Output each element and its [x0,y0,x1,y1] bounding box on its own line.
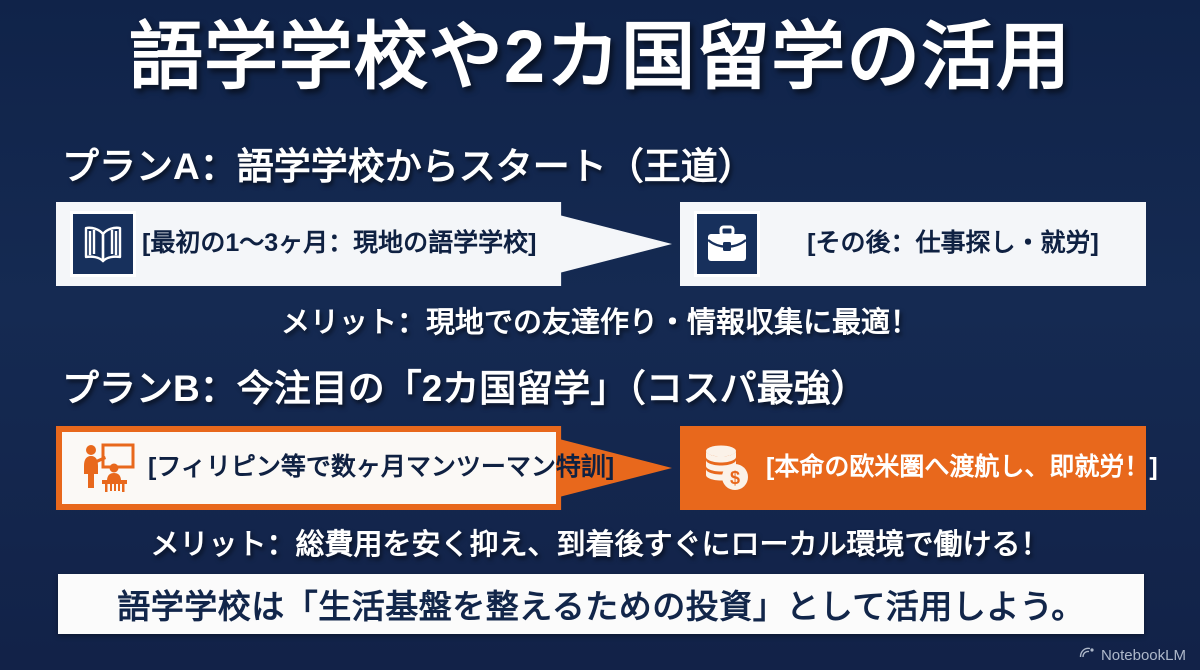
plan-b-flow-row: [フィリピン等で数ヶ月マンツーマン特訓] $ [本命の欧米圏へ渡航し、即就労！] [0,426,1200,510]
watermark-label: NotebookLM [1101,647,1186,664]
plan-a-heading: プランA：語学学校からスタート（王道） [62,136,755,190]
conclusion-text: 語学学校は「生活基盤を整えるための投資」として活用しよう。 [117,580,1085,628]
plan-a-step-2-label: [その後：仕事探し・就労] [760,230,1146,258]
plan-b-step-1-box: [フィリピン等で数ヶ月マンツーマン特訓] [56,426,672,510]
conclusion-banner: 語学学校は「生活基盤を整えるための投資」として活用しよう。 [58,574,1144,634]
plan-b-step-1-label: [フィリピン等で数ヶ月マンツーマン特訓] [142,454,654,482]
notebooklm-logo-icon [1079,646,1095,664]
plan-a-step-1-label: [最初の1〜3ヶ月：現地の語学学校] [136,230,632,258]
page-title: 語学学校や2カ国留学の活用 [0,18,1200,96]
plan-a-flow-row: [最初の1〜3ヶ月：現地の語学学校] [その後：仕事探し・就労] [0,202,1200,286]
teacher-classroom-icon [76,435,142,501]
plan-b-step-2-box: $ [本命の欧米圏へ渡航し、即就労！] [680,426,1146,510]
plan-a-step-1-inner: [最初の1〜3ヶ月：現地の語学学校] [56,202,562,286]
plan-b-step-2-label: [本命の欧米圏へ渡航し、即就労！] [760,454,1164,482]
watermark: NotebookLM [1079,646,1186,664]
plan-a-step-1-box: [最初の1〜3ヶ月：現地の語学学校] [56,202,672,286]
plan-a-step-2-box: [その後：仕事探し・就労] [680,202,1146,286]
svg-text:$: $ [730,468,740,488]
open-book-icon [70,211,136,277]
slide-canvas: 語学学校や2カ国留学の活用 プランA：語学学校からスタート（王道） [最初の1〜… [0,0,1200,670]
plan-b-step-1-inner: [フィリピン等で数ヶ月マンツーマン特訓] [62,432,556,504]
plan-b-merit: メリット：総費用を安く抑え、到着後すぐにローカル環境で働ける！ [0,521,1200,563]
plan-b-heading: プランB：今注目の「2カ国留学」（コスパ最強） [62,358,868,412]
coin-stack-dollar-icon: $ [694,435,760,501]
briefcase-icon [694,211,760,277]
plan-a-merit: メリット：現地での友達作り・情報収集に最適！ [0,299,1200,341]
